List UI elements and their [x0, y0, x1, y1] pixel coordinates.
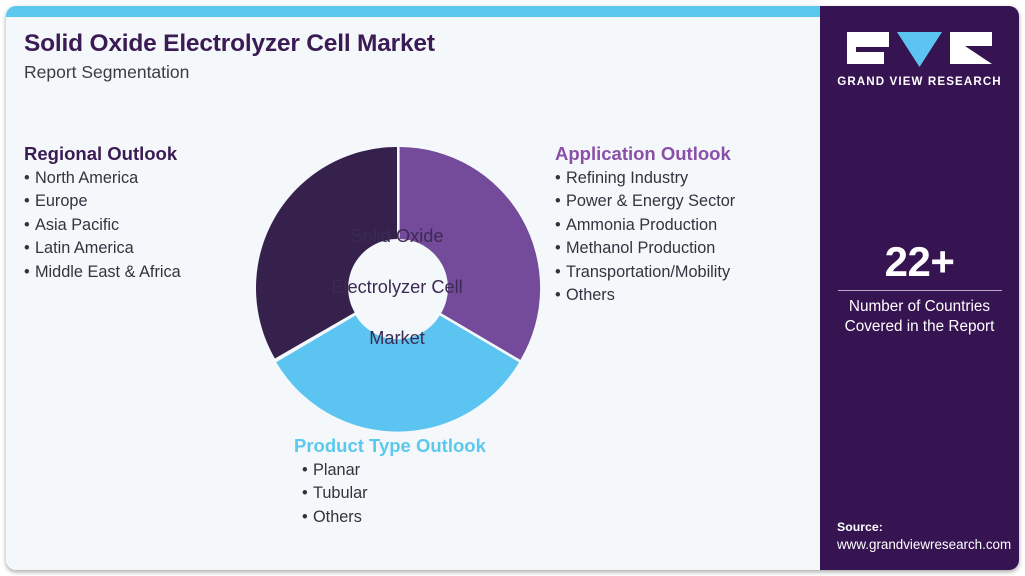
list-item-label: Middle East & Africa — [35, 263, 181, 281]
list-item: •Transportation/Mobility — [555, 261, 735, 284]
page-subtitle: Report Segmentation — [24, 62, 189, 83]
countries-stat: 22+ Number of Countries Covered in the R… — [820, 239, 1019, 337]
bullet-icon: • — [24, 190, 35, 213]
stat-caption-line-2: Covered in the Report — [820, 317, 1019, 337]
bullet-icon: • — [24, 214, 35, 237]
list-item-label: Power & Energy Sector — [566, 192, 735, 210]
source-block: Source: www.grandviewresearch.com — [837, 519, 1011, 554]
product-type-outlook-list: •Planar •Tubular •Others — [294, 459, 486, 529]
infographic-root: Solid Oxide Electrolyzer Cell Market Rep… — [0, 0, 1025, 576]
stat-divider — [838, 290, 1002, 291]
application-outlook-list: •Refining Industry •Power & Energy Secto… — [555, 167, 735, 307]
bullet-icon: • — [555, 261, 566, 284]
list-item-label: Methanol Production — [566, 239, 715, 257]
list-item: •Planar — [302, 459, 486, 482]
list-item-label: North America — [35, 169, 138, 187]
bullet-icon: • — [302, 459, 313, 482]
regional-outlook-heading: Regional Outlook — [24, 143, 181, 165]
list-item: •Others — [555, 284, 735, 307]
list-item: •Europe — [24, 190, 181, 213]
list-item: •Asia Pacific — [24, 214, 181, 237]
list-item-label: Refining Industry — [566, 169, 688, 187]
donut-segment-regional — [256, 147, 397, 359]
source-url[interactable]: www.grandviewresearch.com — [837, 536, 1011, 554]
brand-wordmark: GRAND VIEW RESEARCH — [820, 75, 1019, 88]
bullet-icon: • — [24, 167, 35, 190]
list-item-label: Transportation/Mobility — [566, 263, 730, 281]
bullet-icon: • — [555, 167, 566, 190]
list-item-label: Planar — [313, 461, 360, 479]
stat-number: 22+ — [820, 239, 1019, 285]
application-outlook-heading: Application Outlook — [555, 143, 735, 165]
list-item: •Tubular — [302, 482, 486, 505]
list-item: •Middle East & Africa — [24, 261, 181, 284]
list-item: •Methanol Production — [555, 237, 735, 260]
bullet-icon: • — [555, 284, 566, 307]
list-item-label: Ammonia Production — [566, 216, 717, 234]
regional-outlook-block: Regional Outlook •North America •Europe … — [24, 143, 181, 284]
bullet-icon: • — [24, 237, 35, 260]
bullet-icon: • — [302, 482, 313, 505]
gvr-logo-icon — [847, 30, 992, 68]
brand-panel: GRAND VIEW RESEARCH 22+ Number of Countr… — [820, 6, 1019, 570]
list-item-label: Asia Pacific — [35, 216, 119, 234]
source-label: Source: — [837, 519, 1011, 536]
list-item-label: Others — [313, 508, 362, 526]
stat-caption-line-1: Number of Countries — [820, 297, 1019, 317]
product-type-outlook-heading: Product Type Outlook — [294, 435, 486, 457]
infographic-card: Solid Oxide Electrolyzer Cell Market Rep… — [6, 6, 1019, 570]
donut-segment-application — [400, 147, 541, 360]
list-item-label: Europe — [35, 192, 88, 210]
list-item-label: Tubular — [313, 484, 368, 502]
brand-logo: GRAND VIEW RESEARCH — [820, 30, 1019, 88]
application-outlook-block: Application Outlook •Refining Industry •… — [555, 143, 735, 307]
list-item-label: Latin America — [35, 239, 134, 257]
list-item: •Others — [302, 506, 486, 529]
list-item: •Latin America — [24, 237, 181, 260]
bullet-icon: • — [24, 261, 35, 284]
regional-outlook-list: •North America •Europe •Asia Pacific •La… — [24, 167, 181, 284]
top-accent-bar — [6, 6, 820, 17]
bullet-icon: • — [555, 190, 566, 213]
list-item-label: Others — [566, 286, 615, 304]
list-item: •Power & Energy Sector — [555, 190, 735, 213]
bullet-icon: • — [555, 237, 566, 260]
list-item: •Refining Industry — [555, 167, 735, 190]
bullet-icon: • — [555, 214, 566, 237]
list-item: •North America — [24, 167, 181, 190]
segmentation-donut-chart — [250, 141, 544, 435]
bullet-icon: • — [302, 506, 313, 529]
page-title: Solid Oxide Electrolyzer Cell Market — [24, 30, 435, 58]
list-item: •Ammonia Production — [555, 214, 735, 237]
product-type-outlook-block: Product Type Outlook •Planar •Tubular •O… — [294, 435, 486, 529]
